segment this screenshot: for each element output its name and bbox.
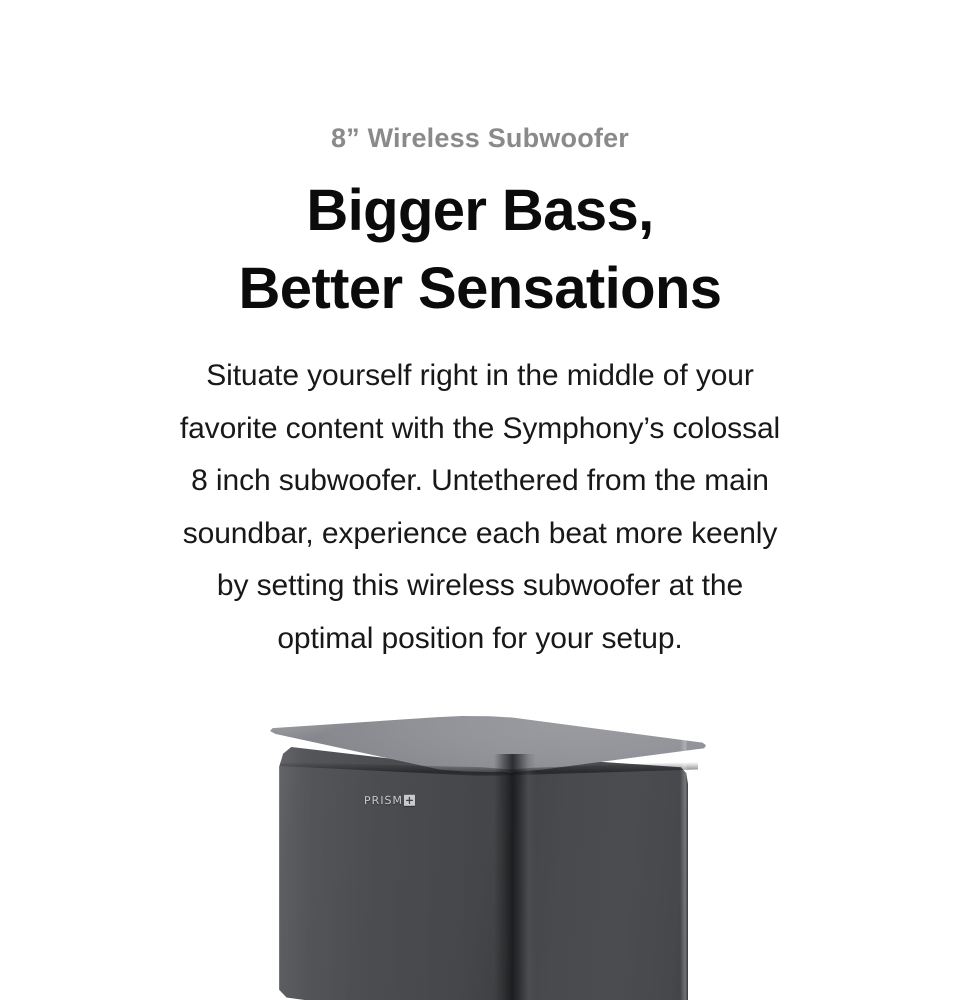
cabinet-left-face <box>277 745 515 1000</box>
body-line-1: Situate yourself right in the middle of … <box>85 350 875 403</box>
body-line-3: 8 inch subwoofer. Untethered from the ma… <box>85 455 875 508</box>
body-line-2: favorite content with the Symphony’s col… <box>85 403 875 456</box>
body-line-5: by setting this wireless subwoofer at th… <box>85 560 875 613</box>
product-image <box>0 700 960 1000</box>
brand-logo-wordmark: PRISM <box>364 795 403 806</box>
headline-line-2: Better Sensations <box>0 250 960 328</box>
brand-logo: PRISM + <box>364 795 415 807</box>
body-line-6: optimal position for your setup. <box>85 613 875 666</box>
body-line-4: soundbar, experience each beat more keen… <box>85 508 875 561</box>
subwoofer-cabinet <box>258 700 706 1000</box>
cabinet-right-face <box>513 756 688 1000</box>
page-title: Bigger Bass, Better Sensations <box>0 158 960 328</box>
brand-logo-plus-icon: + <box>404 795 415 806</box>
product-feature-section: 8” Wireless Subwoofer Bigger Bass, Bette… <box>0 0 960 1000</box>
copy-block: 8” Wireless Subwoofer Bigger Bass, Bette… <box>0 0 960 665</box>
body-paragraph: Situate yourself right in the middle of … <box>85 328 875 665</box>
section-eyebrow: 8” Wireless Subwoofer <box>0 0 960 158</box>
headline-line-1: Bigger Bass, <box>0 172 960 250</box>
